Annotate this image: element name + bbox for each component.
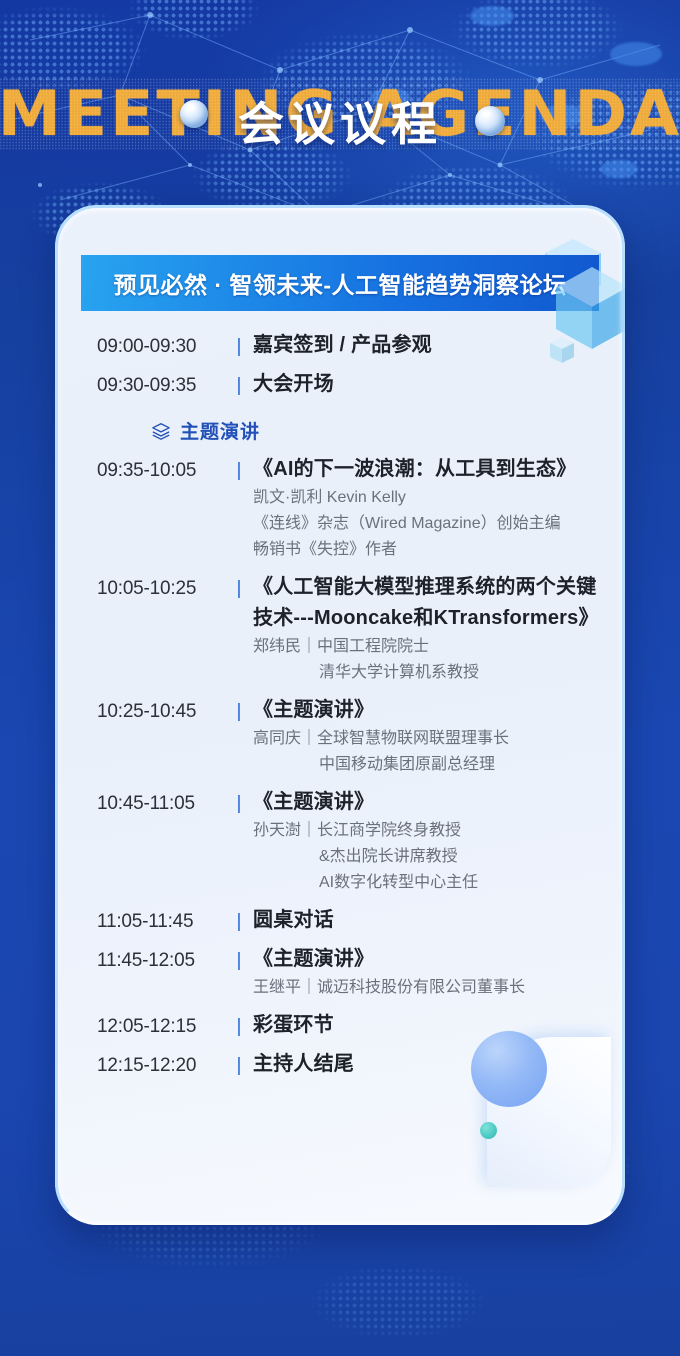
agenda-title: 圆桌对话 — [253, 905, 611, 936]
headline-chinese: 会议议程 — [0, 96, 680, 152]
agenda-title: 主持人结尾 — [253, 1049, 611, 1080]
agenda-time: 10:05-10:25 — [97, 572, 225, 606]
agenda-row[interactable]: 12:05-12:15 | 彩蛋环节 — [55, 1010, 625, 1044]
agenda-body: 大会开场 — [253, 369, 625, 400]
agenda-row[interactable]: 09:35-10:05 | 《AI的下一波浪潮：从工具到生态》 凯文·凯利 Ke… — [55, 454, 625, 563]
agenda-speaker: 高同庆｜全球智慧物联网联盟理事长 — [253, 726, 611, 752]
agenda-card: 预见必然 · 智领未来-人工智能趋势洞察论坛 — [55, 205, 625, 1225]
forum-title-banner-wrap: 预见必然 · 智领未来-人工智能趋势洞察论坛 — [81, 255, 599, 311]
agenda-row[interactable]: 09:30-09:35 | 大会开场 — [55, 369, 625, 403]
agenda-speaker: &杰出院长讲席教授 — [253, 844, 611, 870]
agenda-time: 09:35-10:05 — [97, 454, 225, 488]
agenda-time: 11:45-12:05 — [97, 944, 225, 978]
agenda-row[interactable]: 10:45-11:05 | 《主题演讲》 孙天澍｜长江商学院终身教授 &杰出院长… — [55, 787, 625, 896]
agenda-title: 《主题演讲》 — [253, 944, 611, 975]
background-blob — [610, 42, 662, 66]
agenda-body: 圆桌对话 — [253, 905, 625, 936]
agenda-time: 10:45-11:05 — [97, 787, 225, 821]
agenda-list: 09:00-09:30 | 嘉宾签到 / 产品参观 09:30-09:35 | … — [55, 330, 625, 1088]
agenda-body: 彩蛋环节 — [253, 1010, 625, 1041]
forum-title-text: 预见必然 · 智领未来-人工智能趋势洞察论坛 — [113, 266, 566, 300]
agenda-title: 嘉宾签到 / 产品参观 — [253, 330, 611, 361]
agenda-row[interactable]: 09:00-09:30 | 嘉宾签到 / 产品参观 — [55, 330, 625, 364]
agenda-separator: | — [225, 787, 253, 821]
poster-root: MEETING AGENDA 会议议程 — [0, 0, 680, 1356]
section-header-keynote: 主题演讲 — [55, 417, 625, 444]
agenda-body: 《主题演讲》 王继平｜诚迈科技股份有限公司董事长 — [253, 944, 625, 1001]
agenda-title: 《AI的下一波浪潮：从工具到生态》 — [253, 454, 611, 485]
agenda-title: 彩蛋环节 — [253, 1010, 611, 1041]
agenda-separator: | — [225, 695, 253, 729]
agenda-row[interactable]: 10:05-10:25 | 《人工智能大模型推理系统的两个关键技术---Moon… — [55, 572, 625, 686]
agenda-title: 《主题演讲》 — [253, 787, 611, 818]
agenda-row[interactable]: 11:45-12:05 | 《主题演讲》 王继平｜诚迈科技股份有限公司董事长 — [55, 944, 625, 1001]
agenda-speaker: 郑纬民｜中国工程院院士 — [253, 634, 611, 660]
agenda-time: 12:05-12:15 — [97, 1010, 225, 1044]
background-blob — [600, 160, 638, 178]
agenda-speaker: 凯文·凯利 Kevin Kelly — [253, 485, 611, 511]
agenda-separator: | — [225, 905, 253, 939]
forum-title-banner: 预见必然 · 智领未来-人工智能趋势洞察论坛 — [81, 255, 599, 311]
agenda-separator: | — [225, 944, 253, 978]
agenda-row[interactable]: 11:05-11:45 | 圆桌对话 — [55, 905, 625, 939]
agenda-row[interactable]: 12:15-12:20 | 主持人结尾 — [55, 1049, 625, 1083]
agenda-separator: | — [225, 572, 253, 606]
agenda-speaker: 王继平｜诚迈科技股份有限公司董事长 — [253, 975, 611, 1001]
section-label: 主题演讲 — [180, 417, 260, 444]
layers-icon — [151, 421, 171, 441]
agenda-separator: | — [225, 330, 253, 364]
agenda-speaker: 畅销书《失控》作者 — [253, 537, 611, 563]
agenda-time: 11:05-11:45 — [97, 905, 225, 939]
agenda-speaker: 中国移动集团原副总经理 — [253, 752, 611, 778]
agenda-speaker: AI数字化转型中心主任 — [253, 870, 611, 896]
agenda-body: 《AI的下一波浪潮：从工具到生态》 凯文·凯利 Kevin Kelly 《连线》… — [253, 454, 625, 563]
agenda-body: 《主题演讲》 孙天澍｜长江商学院终身教授 &杰出院长讲席教授 AI数字化转型中心… — [253, 787, 625, 896]
agenda-time: 12:15-12:20 — [97, 1049, 225, 1083]
agenda-speaker: 《连线》杂志（Wired Magazine）创始主编 — [253, 511, 611, 537]
agenda-time: 10:25-10:45 — [97, 695, 225, 729]
agenda-title: 《人工智能大模型推理系统的两个关键技术---Mooncake和KTransfor… — [253, 572, 611, 634]
agenda-body: 《主题演讲》 高同庆｜全球智慧物联网联盟理事长 中国移动集团原副总经理 — [253, 695, 625, 778]
agenda-row[interactable]: 10:25-10:45 | 《主题演讲》 高同庆｜全球智慧物联网联盟理事长 中国… — [55, 695, 625, 778]
agenda-title: 《主题演讲》 — [253, 695, 611, 726]
agenda-speaker: 孙天澍｜长江商学院终身教授 — [253, 818, 611, 844]
agenda-body: 主持人结尾 — [253, 1049, 625, 1080]
agenda-title: 大会开场 — [253, 369, 611, 400]
agenda-time: 09:30-09:35 — [97, 369, 225, 403]
background-blob — [470, 6, 514, 26]
agenda-separator: | — [225, 1049, 253, 1083]
poster-headline: MEETING AGENDA 会议议程 — [0, 78, 680, 158]
agenda-body: 嘉宾签到 / 产品参观 — [253, 330, 625, 361]
agenda-body: 《人工智能大模型推理系统的两个关键技术---Mooncake和KTransfor… — [253, 572, 625, 686]
agenda-separator: | — [225, 454, 253, 488]
agenda-separator: | — [225, 369, 253, 403]
agenda-time: 09:00-09:30 — [97, 330, 225, 364]
agenda-speaker: 清华大学计算机系教授 — [253, 660, 611, 686]
teal-dot-decoration — [480, 1122, 497, 1139]
agenda-separator: | — [225, 1010, 253, 1044]
